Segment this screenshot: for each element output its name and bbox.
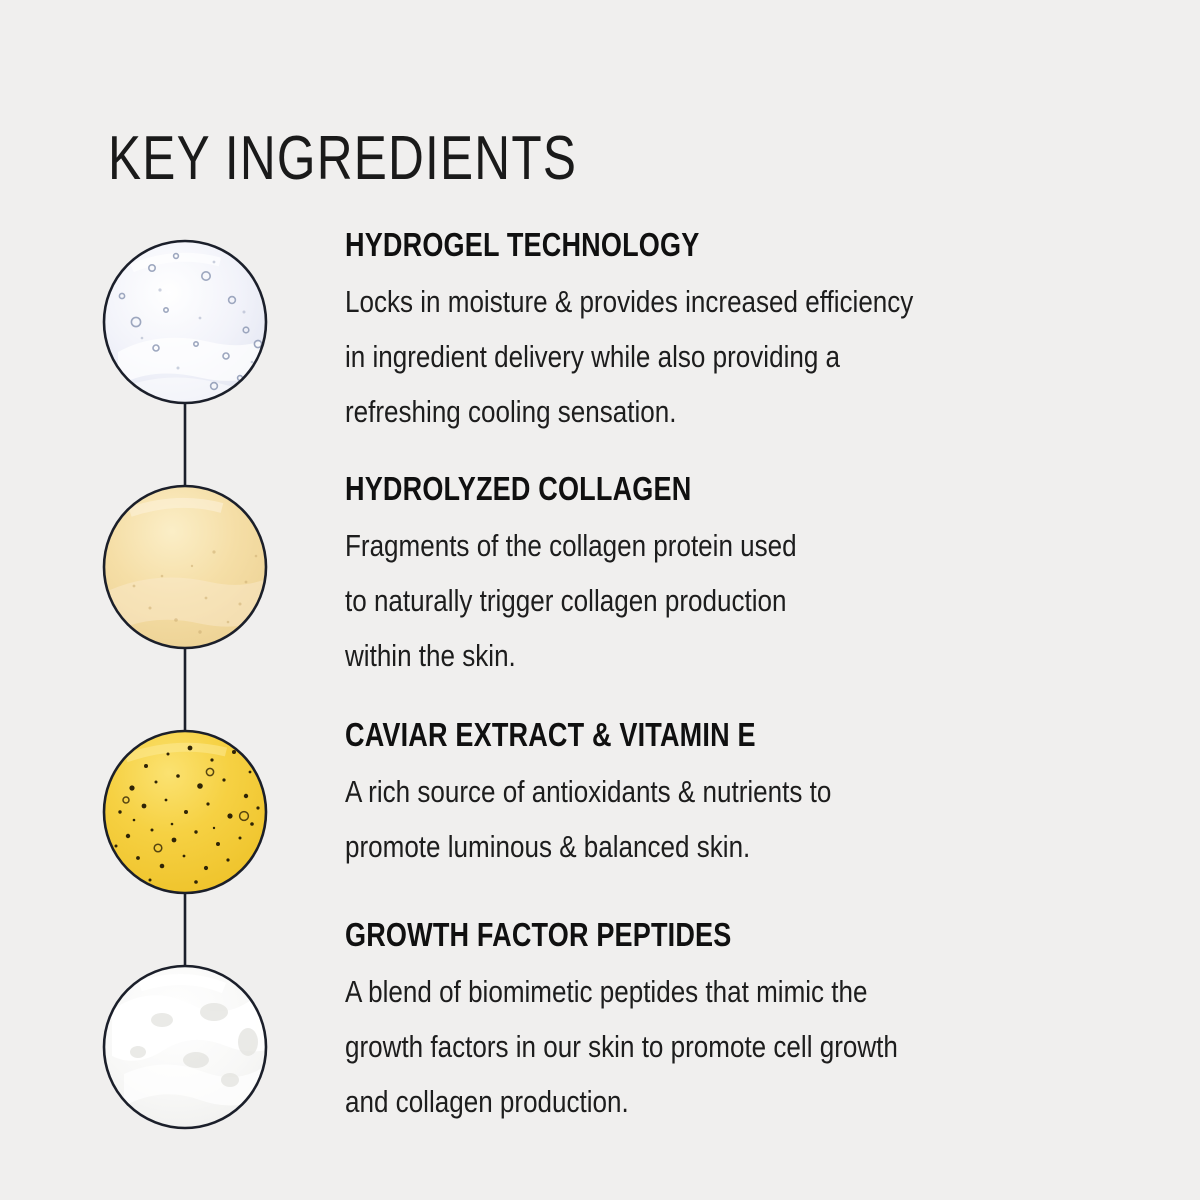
ingredient-body: A rich source of antioxidants & nutrient… — [345, 764, 1135, 874]
body-line: Fragments of the collagen protein used — [345, 518, 1135, 573]
body-line: A rich source of antioxidants & nutrient… — [345, 764, 1135, 819]
rail-graphic — [0, 0, 340, 1200]
ingredient-title: GROWTH FACTOR PEPTIDES — [345, 918, 981, 953]
body-line: in ingredient delivery while also provid… — [345, 329, 1135, 384]
ingredient-block-hydrogel-technology: HYDROGEL TECHNOLOGY Locks in moisture & … — [345, 228, 1120, 439]
white-peptide-cream-swatch — [104, 966, 282, 1128]
ingredient-body: Fragments of the collagen protein used t… — [345, 518, 1135, 684]
body-line: within the skin. — [345, 628, 1135, 683]
body-line: promote luminous & balanced skin. — [345, 819, 1135, 874]
ingredient-block-hydrolyzed-collagen: HYDROLYZED COLLAGEN Fragments of the col… — [345, 472, 1120, 683]
clear-hydrogel-swatch — [104, 236, 270, 418]
body-line: and collagen production. — [345, 1074, 1135, 1129]
golden-caviar-swatch — [104, 731, 266, 893]
ingredient-block-growth-factor-peptides: GROWTH FACTOR PEPTIDES A blend of biomim… — [345, 918, 1120, 1129]
ingredient-rail: clear bluish-white gel with tiny bubbles… — [0, 0, 340, 1200]
ingredient-list: HYDROGEL TECHNOLOGY Locks in moisture & … — [345, 0, 1135, 1200]
body-line: A blend of biomimetic peptides that mimi… — [345, 964, 1135, 1019]
ingredient-title: CAVIAR EXTRACT & VITAMIN E — [345, 718, 981, 753]
ingredient-title: HYDROGEL TECHNOLOGY — [345, 228, 981, 263]
key-ingredients-page: KEY INGREDIENTS — [0, 0, 1200, 1200]
cream-collagen-swatch — [104, 486, 272, 648]
body-line: growth factors in our skin to promote ce… — [345, 1019, 1135, 1074]
ingredient-body: A blend of biomimetic peptides that mimi… — [345, 964, 1135, 1130]
body-line: refreshing cooling sensation. — [345, 384, 1135, 439]
ingredient-block-caviar-extract-vitamin-e: CAVIAR EXTRACT & VITAMIN E A rich source… — [345, 718, 1120, 874]
body-line: to naturally trigger collagen production — [345, 573, 1135, 628]
ingredient-body: Locks in moisture & provides increased e… — [345, 274, 1135, 440]
body-line: Locks in moisture & provides increased e… — [345, 274, 1135, 329]
ingredient-title: HYDROLYZED COLLAGEN — [345, 472, 981, 507]
